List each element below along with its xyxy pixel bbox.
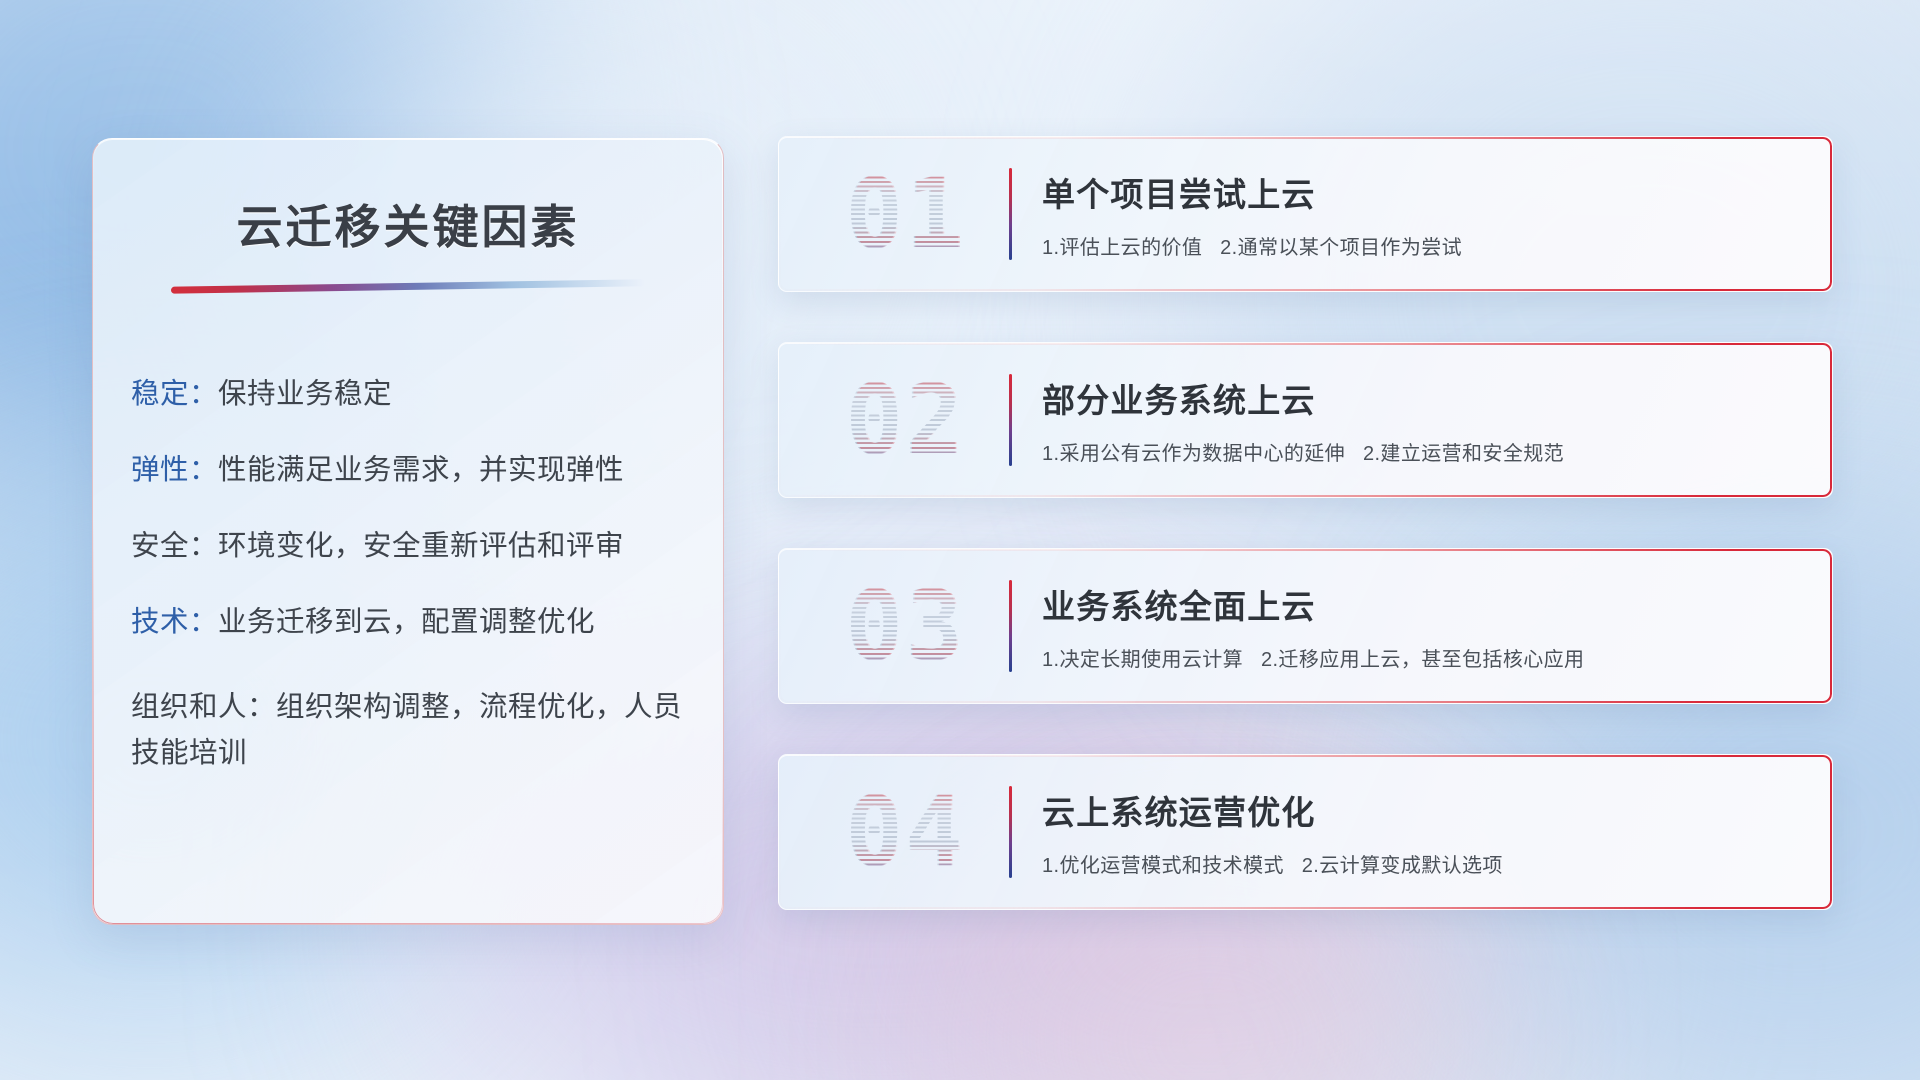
panel-title: 云迁移关键因素 xyxy=(93,191,723,257)
factor-value: 业务迁移到云，配置调整优化 xyxy=(218,606,595,638)
factor-row: 弹性：性能满足业务需求，并实现弹性 xyxy=(131,456,689,486)
stage-title: 单个项目尝试上云 xyxy=(1042,168,1806,216)
stage-number-tint: 02 xyxy=(847,364,967,476)
factor-row: 技术：业务迁移到云，配置调整优化 xyxy=(131,608,689,638)
title-underline-rule xyxy=(171,279,645,293)
accent-divider xyxy=(1009,374,1012,466)
stage-card[interactable]: 01 01 单个项目尝试上云 1.评估上云的价值 2.通常以某个项目作为尝试 xyxy=(778,136,1833,292)
factor-value: 环境变化，安全重新评估和评审 xyxy=(218,530,624,562)
factor-value: 性能满足业务需求，并实现弹性 xyxy=(218,454,624,486)
accent-divider xyxy=(1009,580,1012,672)
stage-number-tint: 03 xyxy=(847,570,967,682)
stage-card[interactable]: 04 04 云上系统运营优化 1.优化运营模式和技术模式 2.云计算变成默认选项 xyxy=(778,754,1833,910)
stage-number-watermark: 02 02 xyxy=(807,361,1003,479)
stage-number-tint: 01 xyxy=(847,158,967,270)
stage-title: 业务系统全面上云 xyxy=(1042,580,1806,628)
stage-subtitle: 1.采用公有云作为数据中心的延伸 2.建立运营和安全规范 xyxy=(1042,437,1806,466)
stage-subtitle: 1.优化运营模式和技术模式 2.云计算变成默认选项 xyxy=(1042,849,1806,878)
stage-card[interactable]: 02 02 部分业务系统上云 1.采用公有云作为数据中心的延伸 2.建立运营和安… xyxy=(778,342,1833,498)
factor-row: 稳定：保持业务稳定 xyxy=(131,380,689,410)
factor-key: 稳定： xyxy=(131,378,218,410)
stage-title: 部分业务系统上云 xyxy=(1042,374,1806,422)
stage-title: 云上系统运营优化 xyxy=(1042,786,1806,834)
factor-key: 安全： xyxy=(131,530,218,562)
stage-card[interactable]: 03 03 业务系统全面上云 1.决定长期使用云计算 2.迁移应用上云，甚至包括… xyxy=(778,548,1833,704)
accent-divider xyxy=(1009,786,1012,878)
factor-key: 弹性： xyxy=(131,454,218,486)
stage-subtitle: 1.决定长期使用云计算 2.迁移应用上云，甚至包括核心应用 xyxy=(1042,643,1806,672)
stage-number-tint: 04 xyxy=(847,776,967,888)
factor-key: 技术： xyxy=(131,606,218,638)
stage-number-watermark: 04 04 xyxy=(807,773,1003,891)
factor-list: 稳定：保持业务稳定 弹性：性能满足业务需求，并实现弹性 安全：环境变化，安全重新… xyxy=(93,380,723,776)
factor-value: 保持业务稳定 xyxy=(218,378,392,410)
stage-number-watermark: 01 01 xyxy=(807,155,1003,273)
accent-divider xyxy=(1009,168,1012,260)
stage-number-watermark: 03 03 xyxy=(807,567,1003,685)
stage-subtitle: 1.评估上云的价值 2.通常以某个项目作为尝试 xyxy=(1042,231,1806,260)
factor-key: 组织和人： xyxy=(131,691,276,723)
key-factors-panel: 云迁移关键因素 稳定：保持业务稳定 弹性：性能满足业务需求，并实现弹性 安全：环… xyxy=(92,138,724,925)
factor-row: 组织和人：组织架构调整，流程优化，人员技能培训 xyxy=(131,684,689,776)
factor-row: 安全：环境变化，安全重新评估和评审 xyxy=(131,532,689,562)
stage-card-list: 01 01 单个项目尝试上云 1.评估上云的价值 2.通常以某个项目作为尝试 0… xyxy=(778,136,1833,960)
